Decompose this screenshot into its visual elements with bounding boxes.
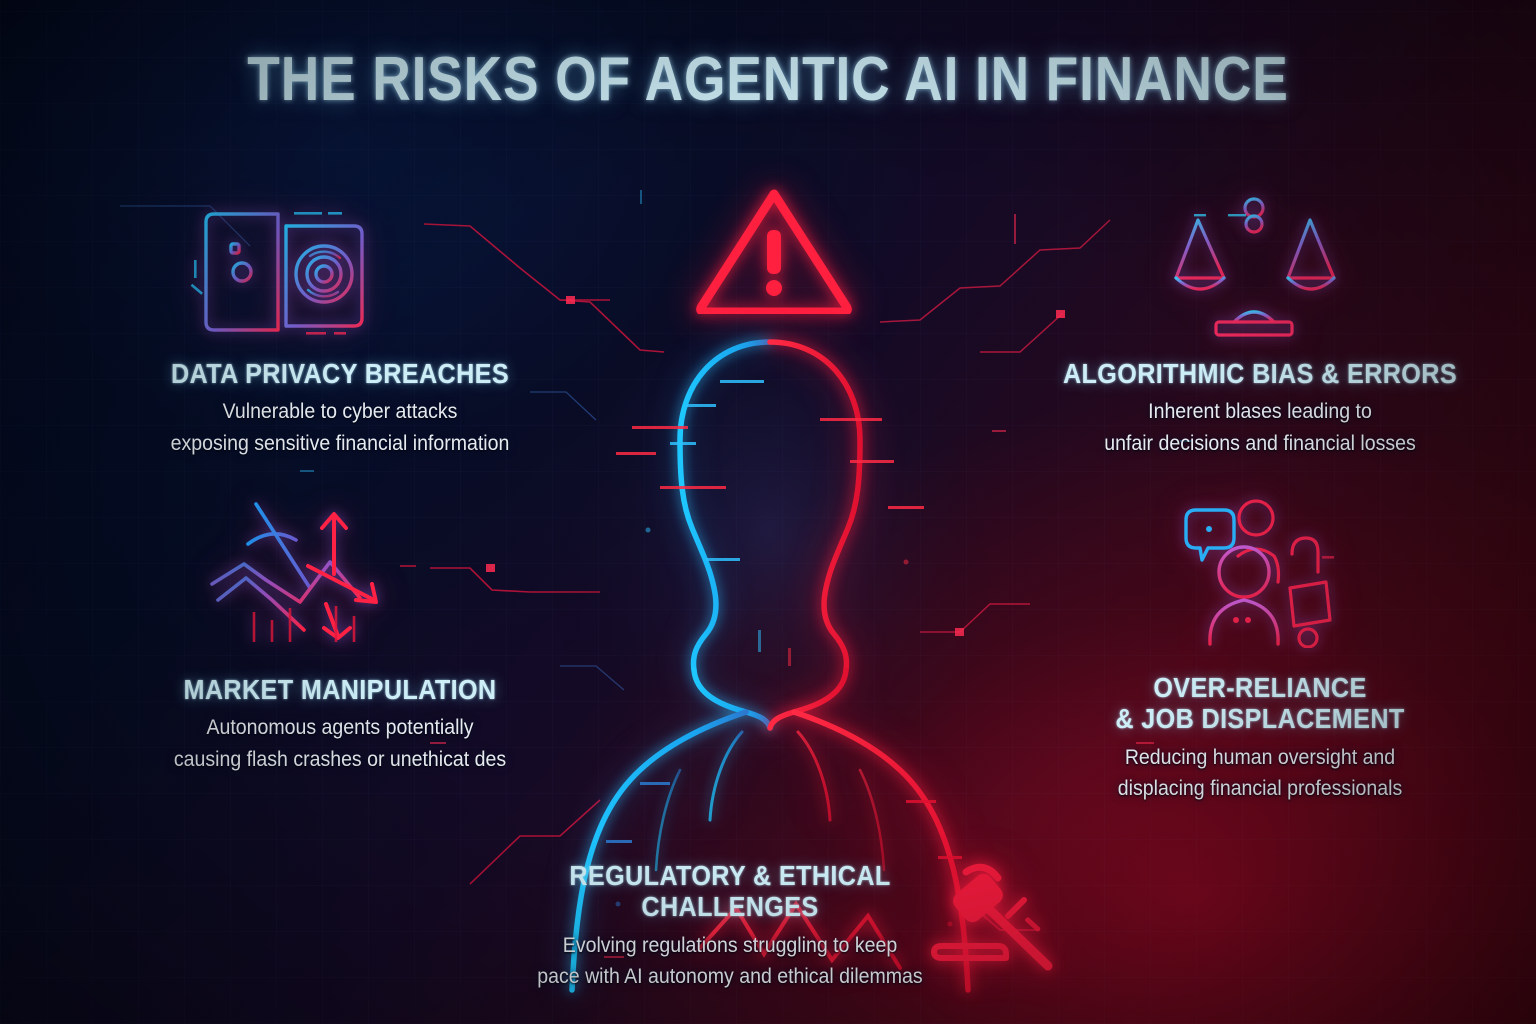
risk-body-algorithmic-bias-errors: Inherent blases leading to unfair decisi… bbox=[1028, 396, 1493, 459]
risk-heading-market-manipulation: MARKET MANIPULATION bbox=[88, 674, 592, 705]
vault-safe-icon bbox=[186, 196, 382, 342]
people-group-icon bbox=[1176, 498, 1348, 648]
page-title-wrap: THE RISKS OF AGENTIC AI IN FINANCE bbox=[0, 44, 1536, 115]
risk-heading-regulatory-line1: REGULATORY & ETHICAL bbox=[569, 860, 890, 891]
risk-block-algorithmic-bias-errors: ALGORITHMIC BIAS & ERRORS Inherent blase… bbox=[1010, 358, 1510, 459]
risk-heading-over-reliance-line1: OVER-RELIANCE bbox=[1153, 672, 1366, 703]
risk-body-regulatory: Evolving regulations struggling to keep … bbox=[460, 930, 999, 993]
risk-block-over-reliance-job-displacement: OVER-RELIANCE & JOB DISPLACEMENT Reducin… bbox=[1010, 672, 1510, 805]
risk-heading-over-reliance-line2: & JOB DISPLACEMENT bbox=[1115, 703, 1404, 734]
risk-body-data-privacy-breaches: Vulnerable to cyber attacks exposing sen… bbox=[80, 396, 601, 459]
warning-triangle-icon bbox=[694, 184, 854, 314]
risk-heading-algorithmic-bias-errors: ALGORITHMIC BIAS & ERRORS bbox=[1035, 358, 1485, 389]
page-title: THE RISKS OF AGENTIC AI IN FINANCE bbox=[108, 44, 1429, 115]
risk-heading-regulatory: REGULATORY & ETHICAL CHALLENGES bbox=[469, 860, 991, 923]
risk-body-over-reliance: Reducing human oversight and displacing … bbox=[1028, 742, 1493, 805]
balance-scale-icon bbox=[1168, 194, 1340, 342]
risk-heading-regulatory-line2: CHALLENGES bbox=[641, 891, 818, 922]
risk-body-market-manipulation: Autonomous agents potentially causing fl… bbox=[80, 712, 601, 775]
risk-block-data-privacy-breaches: DATA PRIVACY BREACHES Vulnerable to cybe… bbox=[60, 358, 620, 459]
volatile-stock-chart-icon bbox=[204, 496, 394, 644]
risk-block-market-manipulation: MARKET MANIPULATION Autonomous agents po… bbox=[60, 674, 620, 775]
risk-block-regulatory-ethical-challenges: REGULATORY & ETHICAL CHALLENGES Evolving… bbox=[440, 860, 1020, 993]
infographic-canvas: THE RISKS OF AGENTIC AI IN FINANCE bbox=[0, 0, 1536, 1024]
risk-heading-over-reliance: OVER-RELIANCE & JOB DISPLACEMENT bbox=[1035, 672, 1485, 735]
risk-heading-data-privacy-breaches: DATA PRIVACY BREACHES bbox=[88, 358, 592, 389]
